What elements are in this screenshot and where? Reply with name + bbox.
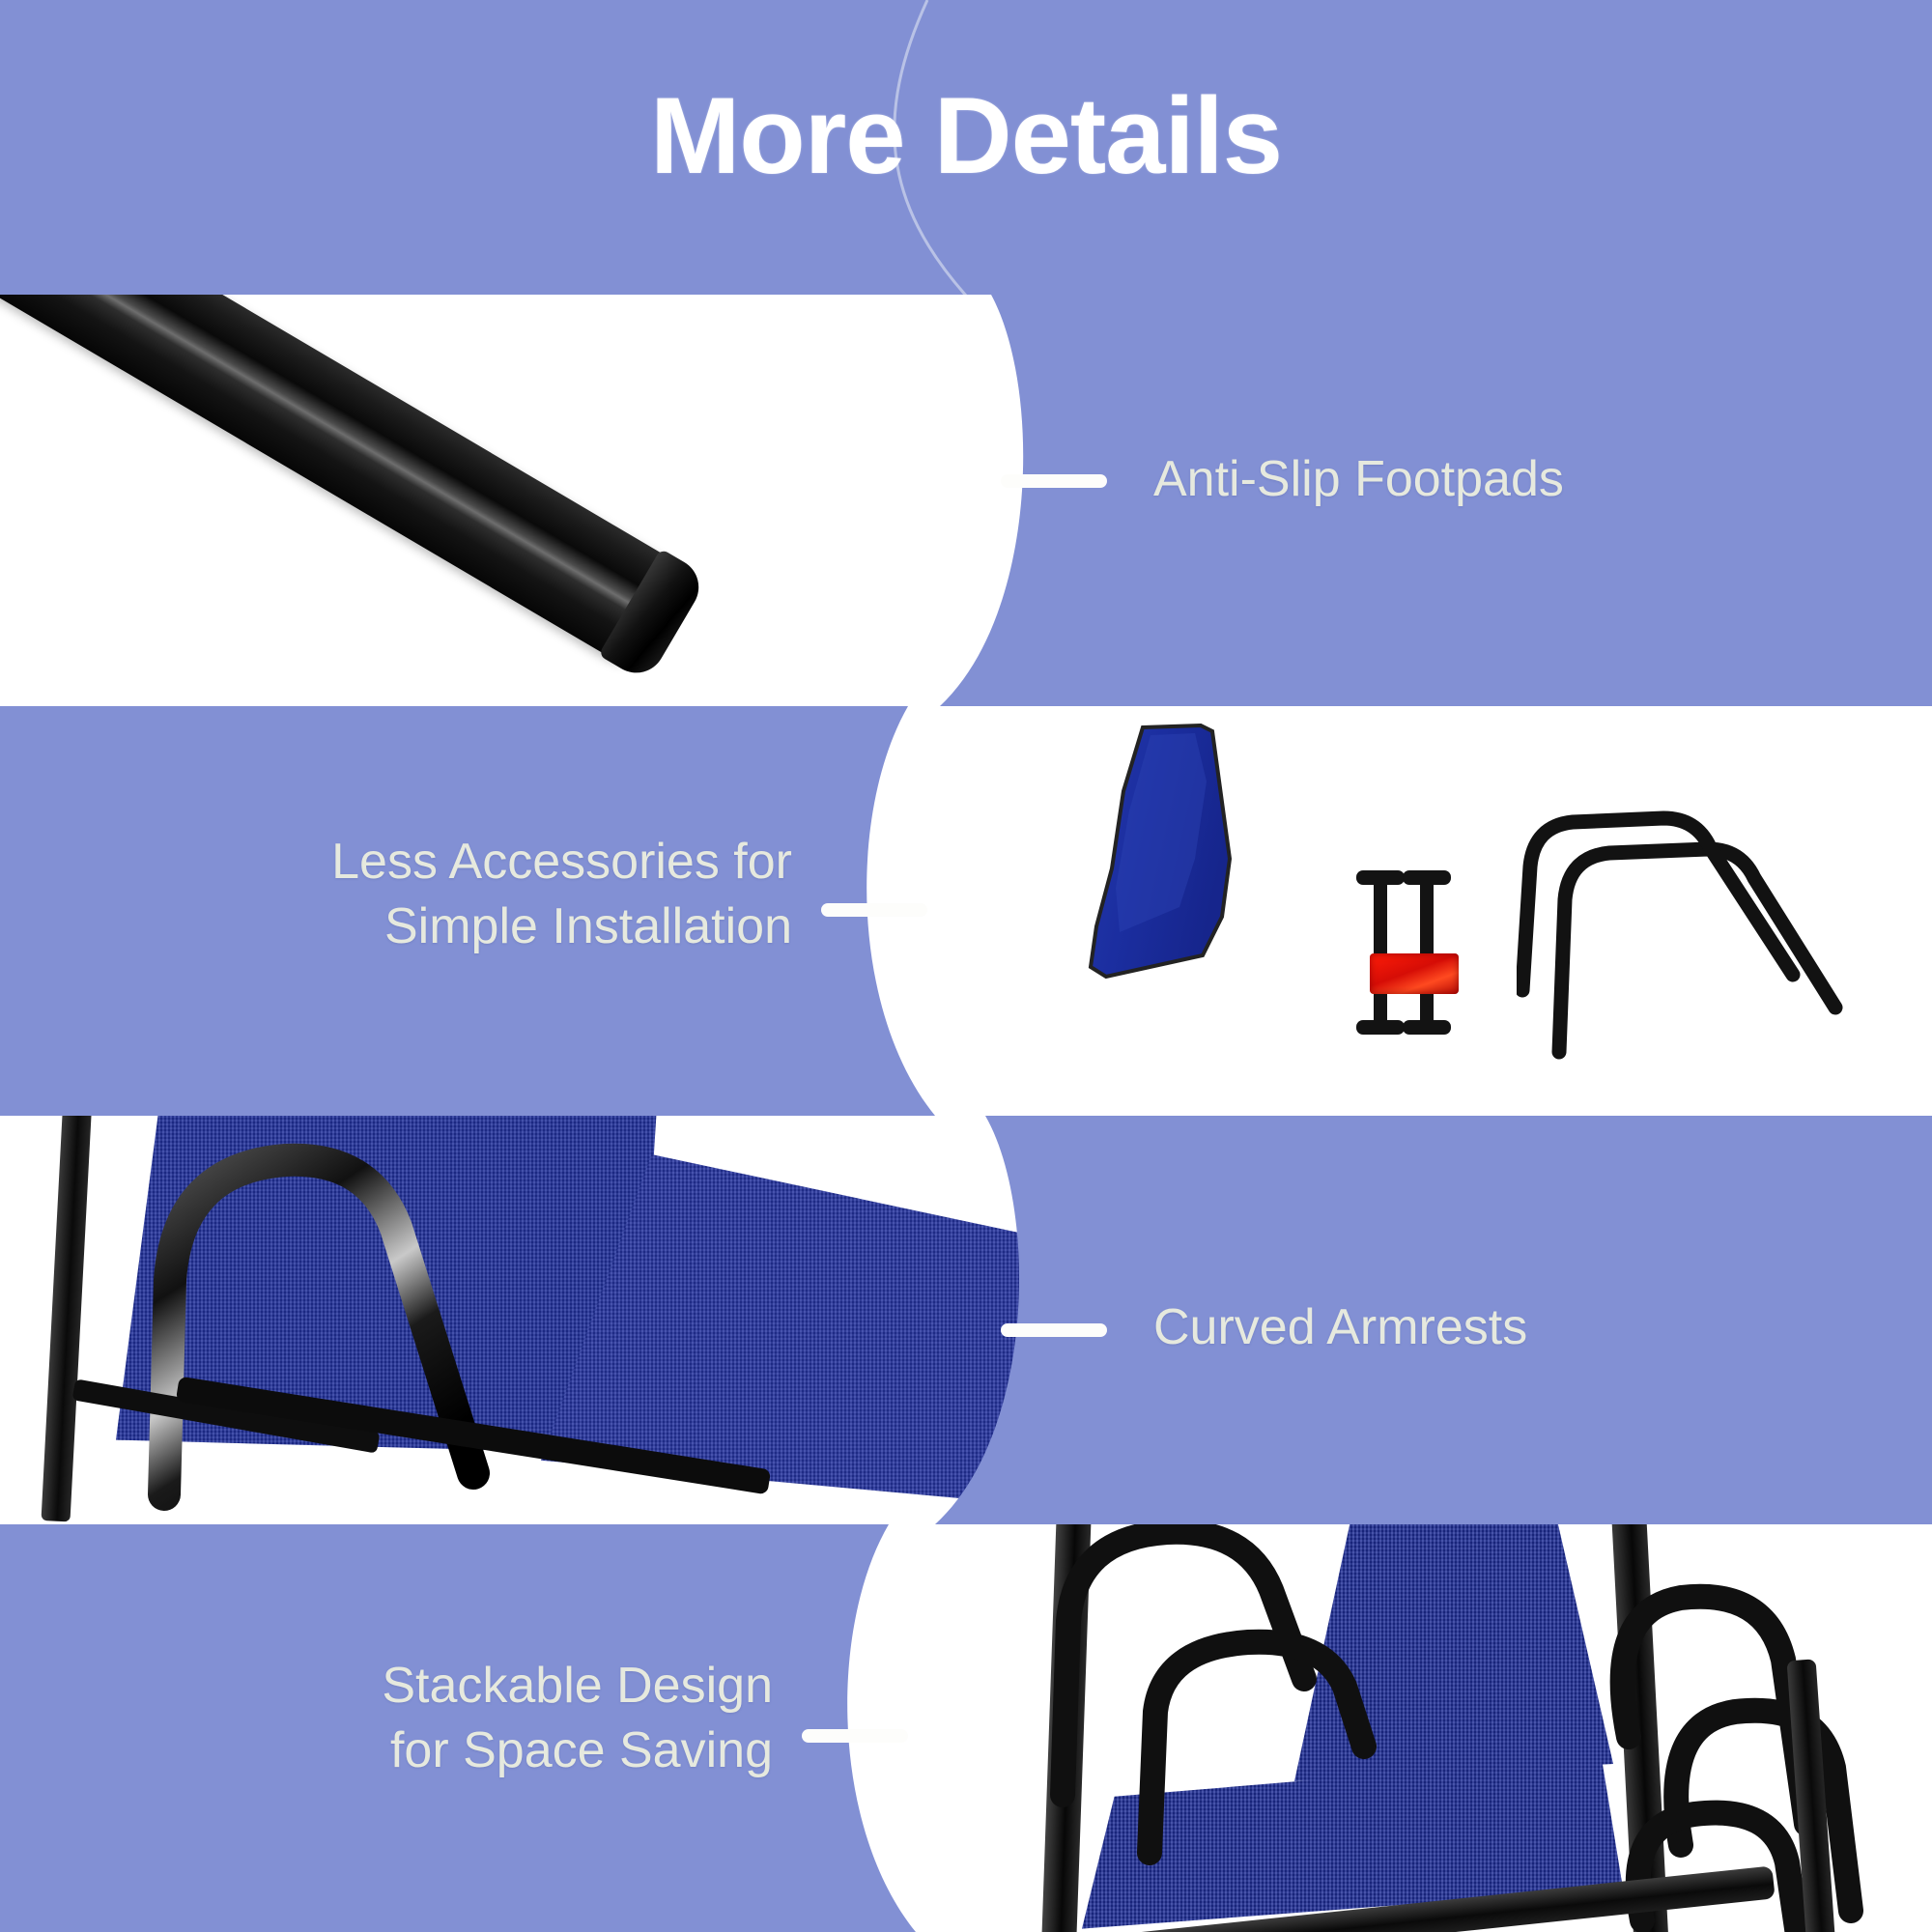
cross-bar-2-top-cap — [1403, 870, 1451, 885]
seat-fabric-sling — [1087, 724, 1333, 1013]
chair-leg-tube — [0, 295, 695, 672]
cross-bar-2-bottom-cap — [1403, 1020, 1451, 1035]
product-detail-poster: More Details Anti-Slip Footpads — [0, 0, 1932, 1932]
feature-band-anti-slip-footpads: Anti-Slip Footpads — [0, 295, 1932, 706]
cross-bar-1-top-cap — [1356, 870, 1405, 885]
poster-header: More Details — [0, 0, 1932, 295]
feature-label-curved-armrests: Curved Armrests — [1153, 1295, 1527, 1360]
feature-band-curved-armrests: Curved Armrests — [0, 1116, 1932, 1524]
page-title: More Details — [0, 0, 1932, 295]
armrest-frame-pair — [1517, 810, 1903, 1062]
feature-band-stackable-design: Stackable Design for Space Saving — [0, 1524, 1932, 1932]
connector-dash-curved-armrests — [1001, 1323, 1107, 1337]
cross-bar-2 — [1420, 874, 1434, 1031]
cross-bar-1 — [1374, 874, 1387, 1031]
connector-dash-stackable-design — [802, 1729, 908, 1743]
feature-label-anti-slip-footpads: Anti-Slip Footpads — [1153, 447, 1564, 512]
footpad-cap — [598, 549, 709, 684]
feature-label-stackable-design: Stackable Design for Space Saving — [155, 1654, 773, 1782]
rear-leg-post — [42, 1116, 93, 1521]
cross-bar-1-bottom-cap — [1356, 1020, 1405, 1035]
connector-dash-less-accessories — [821, 903, 927, 917]
connector-dash-anti-slip-footpads — [1001, 474, 1107, 488]
feature-label-less-accessories: Less Accessories for Simple Installation — [155, 830, 792, 958]
feature-band-less-accessories: Less Accessories for Simple Installation — [0, 706, 1932, 1116]
hardware-bag — [1370, 953, 1459, 994]
